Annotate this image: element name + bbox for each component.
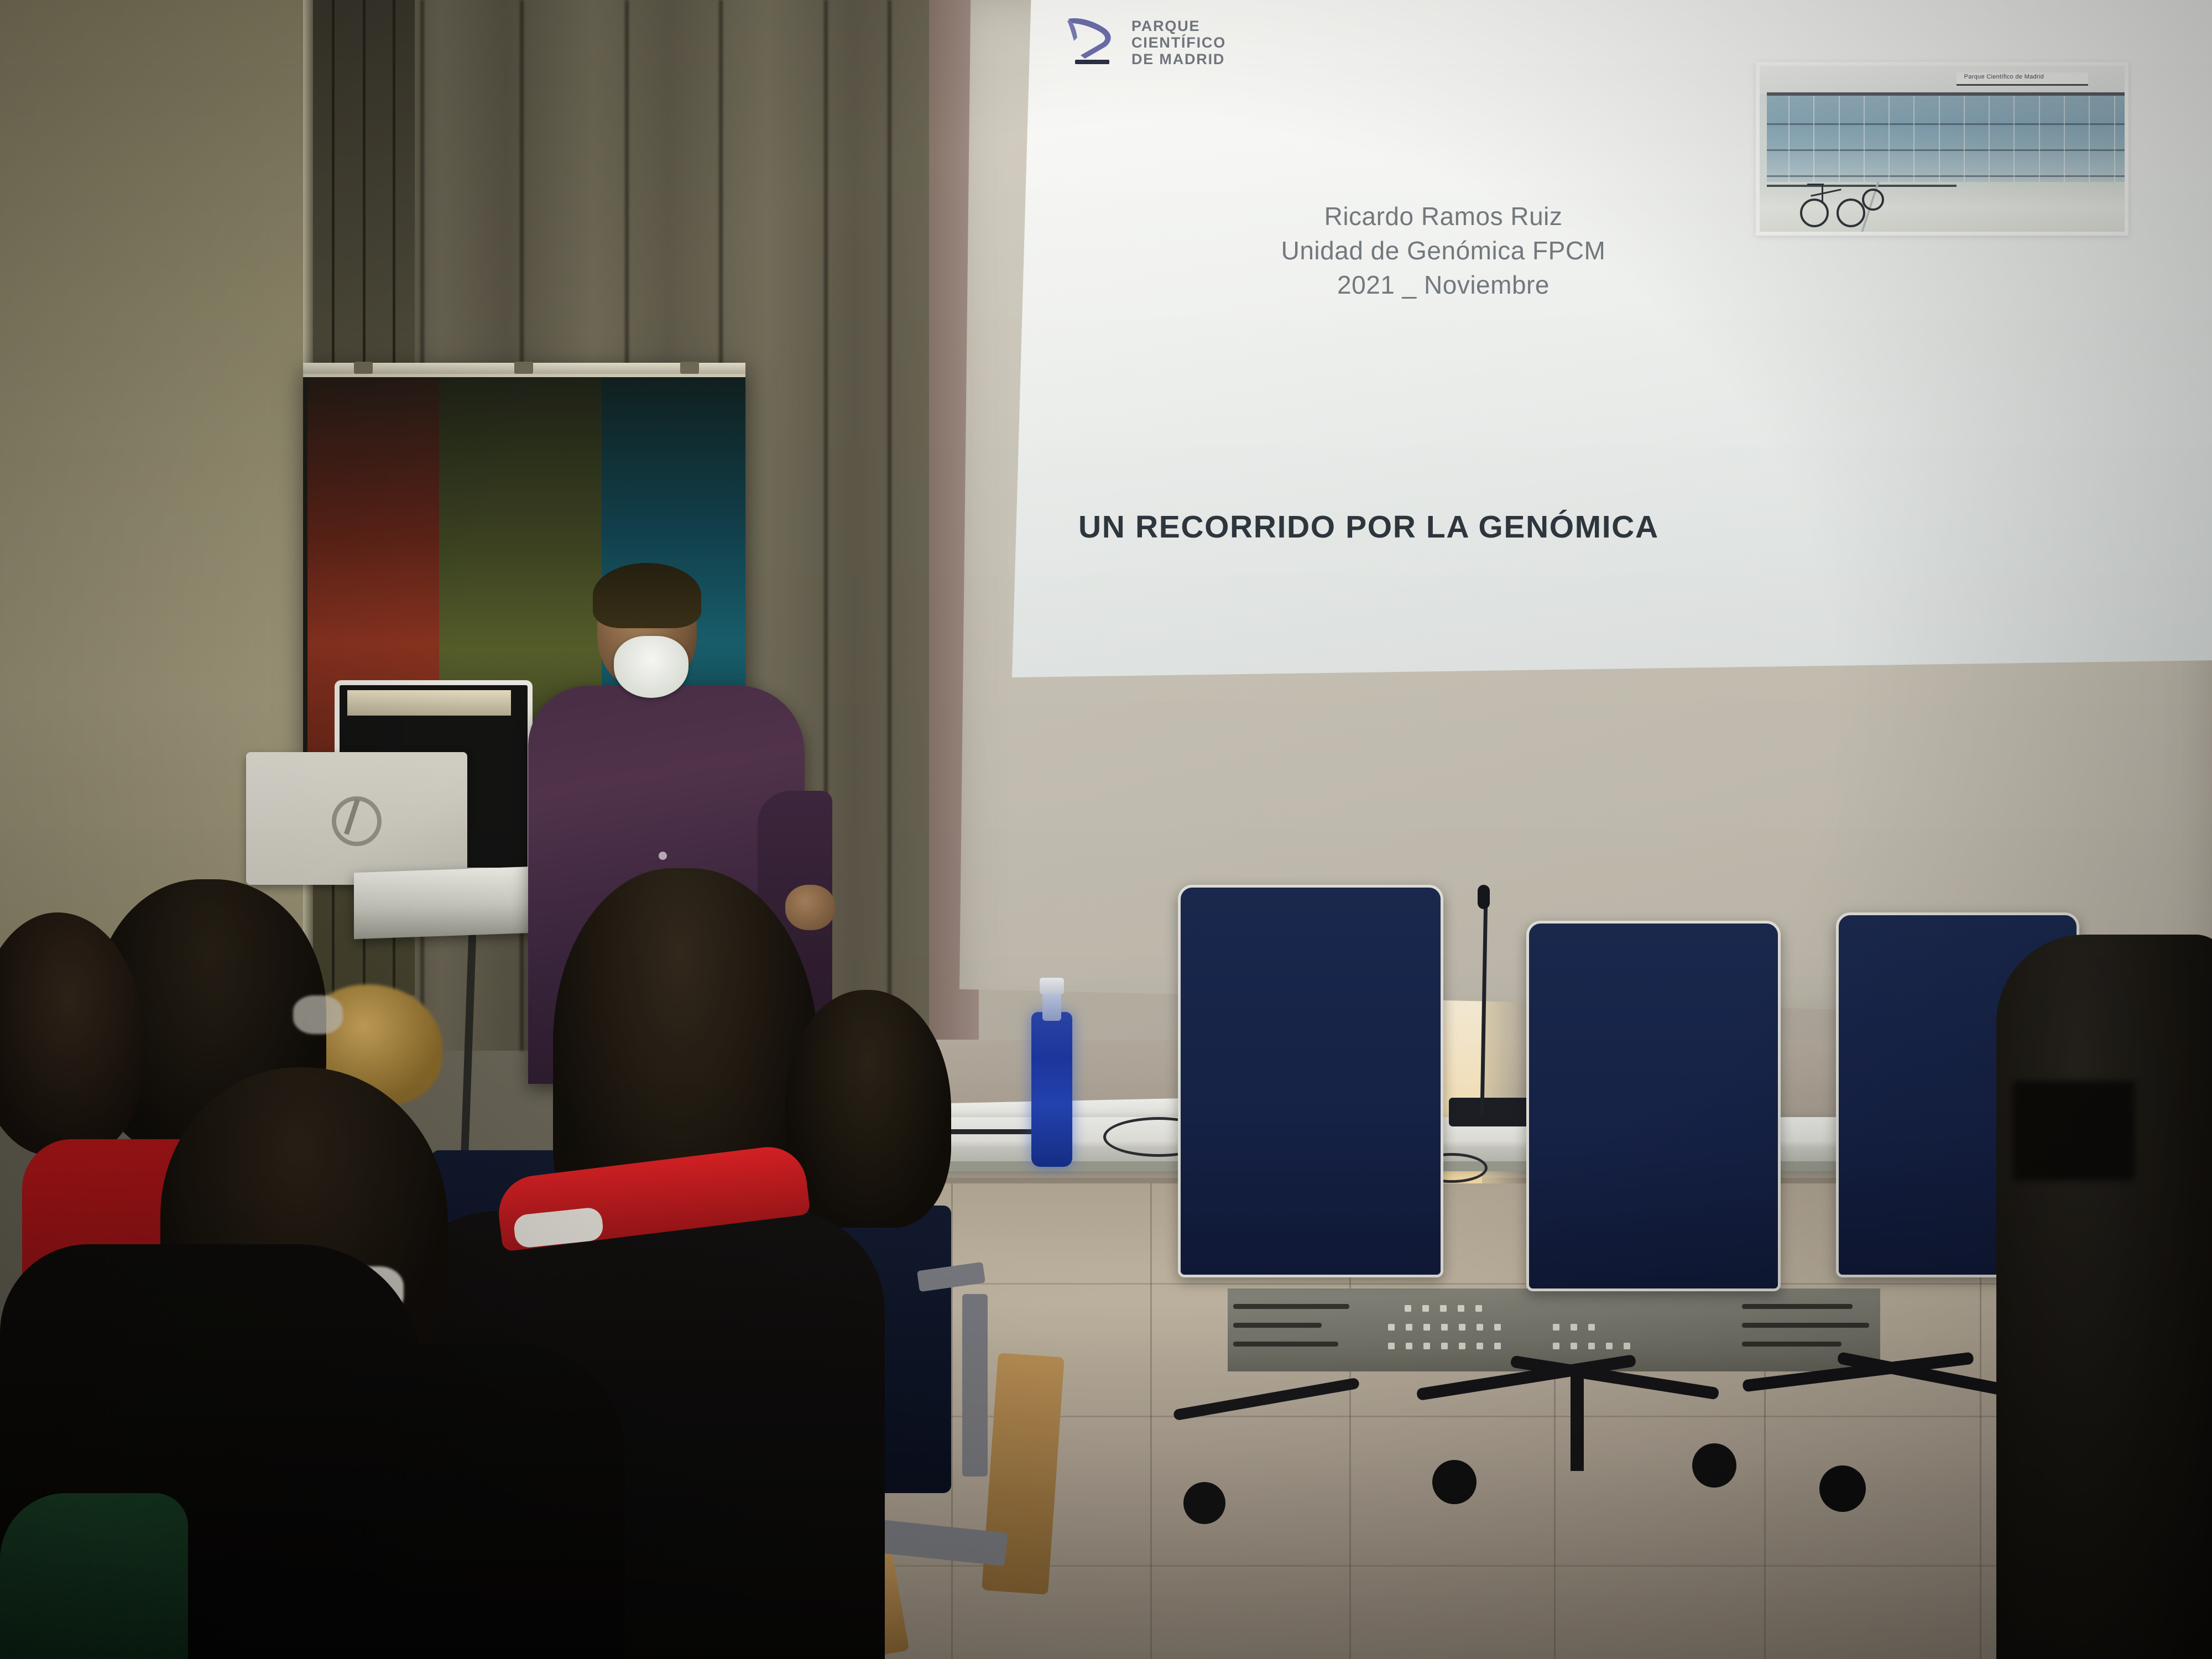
cable-run	[940, 1129, 1034, 1134]
audience-green-jacket	[0, 1493, 188, 1659]
bicycle-icon	[1837, 199, 1865, 227]
audience-head	[785, 990, 951, 1228]
audience-face-mask	[293, 995, 343, 1034]
slide-presentation-date: 2021 _ Noviembre	[1012, 268, 1875, 302]
building-facade	[1767, 92, 2125, 189]
slide-logo-text: PARQUE CIENTÍFICO DE MADRID	[1131, 18, 1226, 67]
slide-center-text: Ricardo Ramos Ruiz Unidad de Genómica FP…	[1012, 199, 1875, 302]
slide-photo-building: Parque Científico de Madrid	[1756, 62, 2128, 236]
laptop-back-screen	[347, 690, 511, 716]
chair-caster-icon	[1183, 1482, 1225, 1524]
chair-backrest	[1526, 921, 1781, 1291]
logo-line-1: PARQUE	[1131, 18, 1226, 34]
art-clip-icon	[354, 362, 373, 374]
chair-caster-icon	[1432, 1460, 1477, 1504]
slide-logo: PARQUE CIENTÍFICO DE MADRID	[1061, 10, 1293, 71]
modesty-panel	[1228, 1288, 1880, 1371]
bicycle-icon	[1862, 189, 1884, 211]
parque-cientifico-swoosh-logo-icon	[1061, 15, 1120, 66]
microphone-capsule-icon	[1478, 885, 1490, 909]
seat-armrest	[962, 1294, 988, 1477]
art-clip-icon	[680, 362, 699, 374]
bottle-cap[interactable]	[1040, 978, 1064, 994]
chair-base	[1571, 1366, 1584, 1471]
attendee-right-silhouette	[1996, 935, 2212, 1659]
slide-presenter-affiliation: Unidad de Genómica FPCM	[1012, 233, 1875, 268]
photo-scene: PARQUE CIENTÍFICO DE MADRID Ricardo Ramo…	[0, 0, 2212, 1659]
chair-caster-icon	[1819, 1465, 1866, 1512]
chair-caster-icon	[1692, 1443, 1736, 1488]
audience-dark-coat	[127, 1344, 625, 1659]
projected-slide: PARQUE CIENTÍFICO DE MADRID Ricardo Ramo…	[1012, 0, 2212, 677]
chair-backrest	[1178, 885, 1443, 1277]
art-clip-icon	[514, 362, 533, 374]
building-roof-sign-text: Parque Científico de Madrid	[1964, 74, 2044, 80]
bicycle-icon	[1800, 199, 1829, 227]
attendee-right-shoulder	[2013, 1081, 2135, 1181]
water-bottle[interactable]	[1031, 1012, 1072, 1167]
presenter-hand	[785, 885, 835, 930]
presenter-hair	[593, 563, 701, 628]
logo-line-3: DE MADRID	[1131, 51, 1226, 67]
bottle-neck	[1042, 990, 1061, 1021]
slide-title: UN RECORRIDO POR LA GENÓMICA	[1078, 509, 1659, 545]
presenter-face-mask	[614, 636, 688, 698]
slide-presenter-name: Ricardo Ramos Ruiz	[1012, 199, 1875, 233]
logo-line-2: CIENTÍFICO	[1131, 34, 1226, 51]
